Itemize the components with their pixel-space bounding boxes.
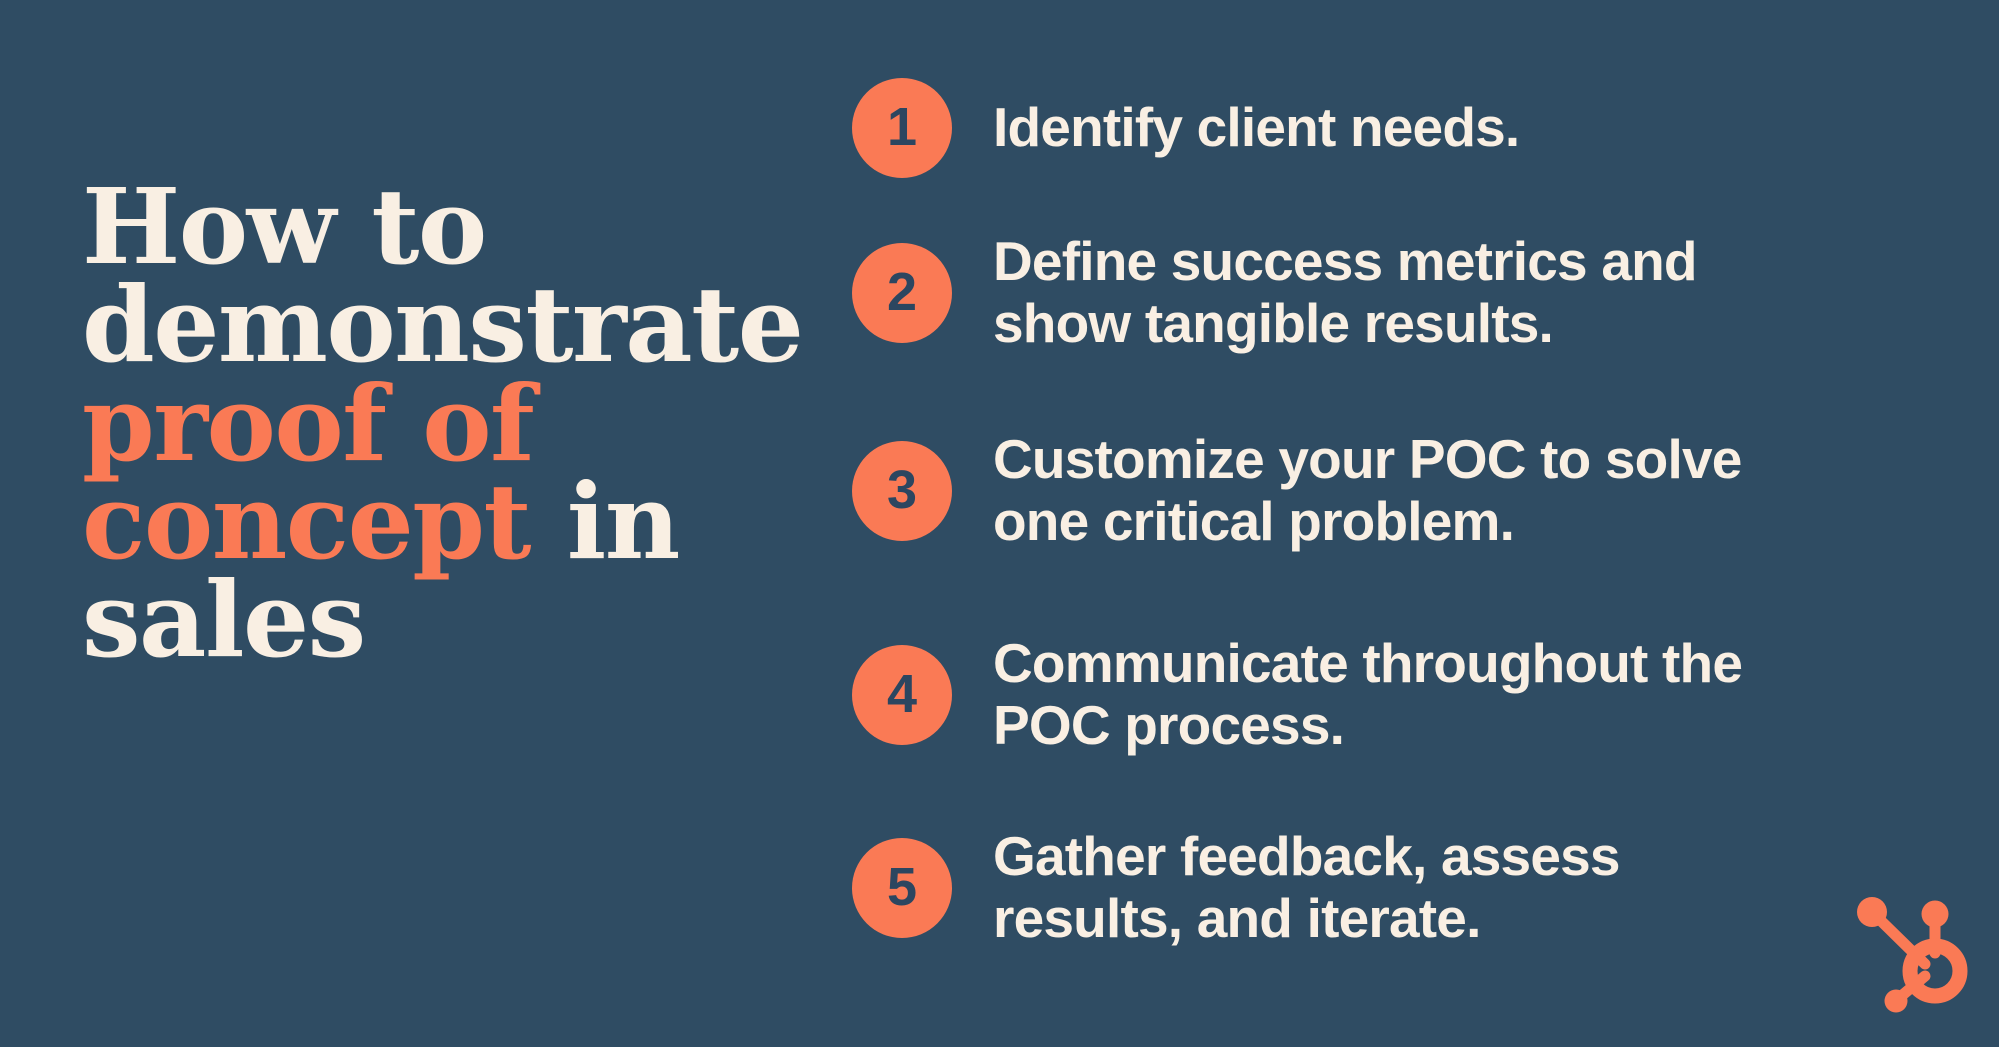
steps-list: 1 Identify client needs. 2 Define succes… [852,0,1952,1047]
step-number: 2 [887,265,917,319]
page-title: How todemonstrateproof ofconcept insales [82,178,742,669]
step-number: 3 [887,463,917,517]
step-number: 1 [887,100,917,154]
step-badge-5: 5 [852,838,952,938]
step-text: Customize your POC to solve one critical… [993,429,1952,552]
list-item: 5 Gather feedback, assess results, and i… [852,838,1952,938]
title-line-4: sales [82,558,365,681]
infographic-slide: How todemonstrateproof ofconcept insales… [0,0,1999,1047]
step-text: Communicate throughout the POC process. [993,633,1952,756]
step-number: 5 [887,860,917,914]
list-item: 1 Identify client needs. [852,78,1952,178]
title-line-3-plain: in [530,460,679,583]
title-block: How todemonstrateproof ofconcept insales [82,178,742,669]
step-badge-2: 2 [852,243,952,343]
step-badge-3: 3 [852,441,952,541]
list-item: 4 Communicate throughout the POC process… [852,645,1952,745]
step-number: 4 [887,667,917,721]
step-text: Identify client needs. [993,97,1952,159]
hubspot-sprocket-icon [1851,891,1973,1013]
step-badge-1: 1 [852,78,952,178]
list-item: 2 Define success metrics and show tangib… [852,243,1952,343]
step-badge-4: 4 [852,645,952,745]
list-item: 3 Customize your POC to solve one critic… [852,441,1952,541]
step-text: Gather feedback, assess results, and ite… [993,826,1952,949]
step-text: Define success metrics and show tangible… [993,231,1952,354]
